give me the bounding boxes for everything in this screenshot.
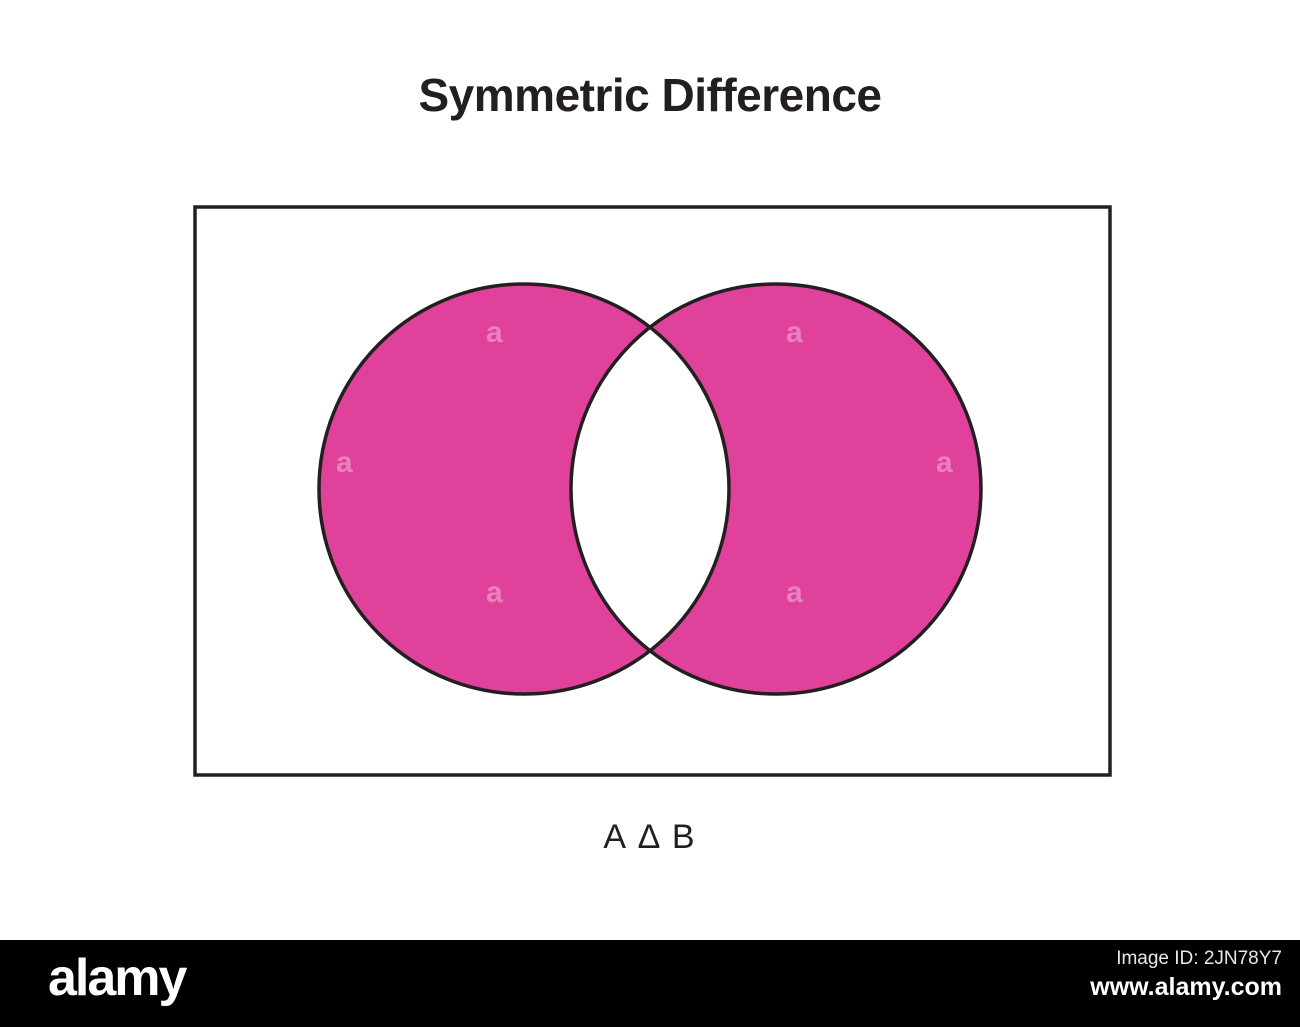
- stock-watermark-bar: alamy Image ID: 2JN78Y7 www.alamy.com: [0, 940, 1300, 1027]
- alamy-logo: alamy: [48, 952, 185, 1004]
- image-id-label: Image ID: 2JN78Y7: [1116, 948, 1282, 970]
- venn-diagram: a a a a a a: [0, 0, 1300, 900]
- venn-diagram-svg: [0, 0, 1300, 900]
- figure-caption: A Δ B: [0, 818, 1300, 857]
- figure-canvas: Symmetric Difference: [0, 0, 1300, 1027]
- website-label: www.alamy.com: [1090, 973, 1282, 1002]
